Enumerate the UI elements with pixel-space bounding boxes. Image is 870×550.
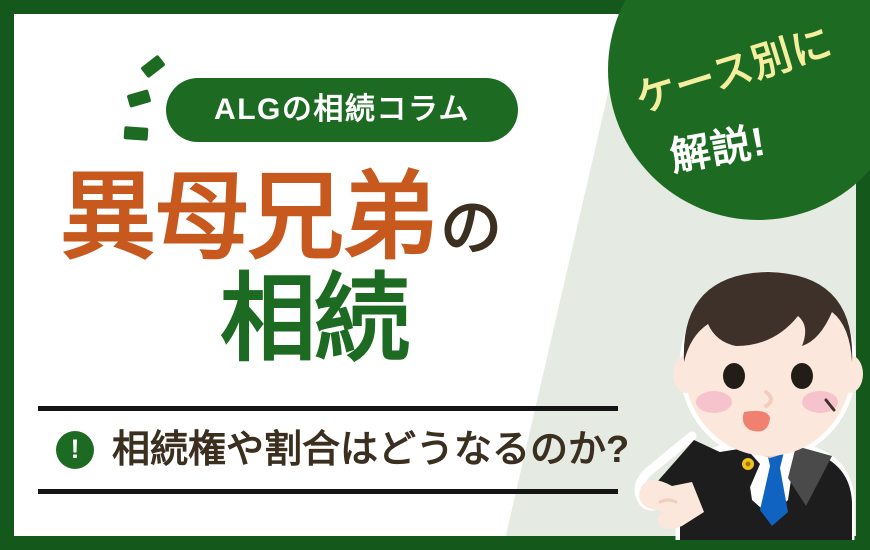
sparkle-dash-icon <box>124 126 149 141</box>
column-badge: ALGの相続コラム <box>166 78 518 142</box>
stamp-line-1: ケース別に <box>628 10 839 125</box>
title-particle: の <box>440 198 502 266</box>
exclamation-glyph: ! <box>71 436 80 463</box>
exclamation-icon: ! <box>56 431 94 469</box>
page-title: 異母兄弟 の 相続 <box>60 170 620 368</box>
column-badge-label: ALGの相続コラム <box>214 95 470 125</box>
stamp-line-2: 解説! <box>665 109 770 183</box>
pointing-businessman-illustration <box>620 250 870 540</box>
inheritance-column-banner: ALGの相続コラム ケース別に 解説! 異母兄弟 の 相続 ! 相続権や割合はど… <box>0 0 870 550</box>
subtitle-row: ! 相続権や割合はどうなるのか? <box>38 411 618 489</box>
subtitle-text: 相続権や割合はどうなるのか? <box>112 431 629 469</box>
subtitle-block: ! 相続権や割合はどうなるのか? <box>38 406 618 494</box>
title-line-1: 異母兄弟 の <box>60 170 620 266</box>
title-line-2: 相続 <box>60 272 620 368</box>
divider-bottom <box>38 489 618 494</box>
title-emphasis: 異母兄弟 <box>60 170 436 266</box>
